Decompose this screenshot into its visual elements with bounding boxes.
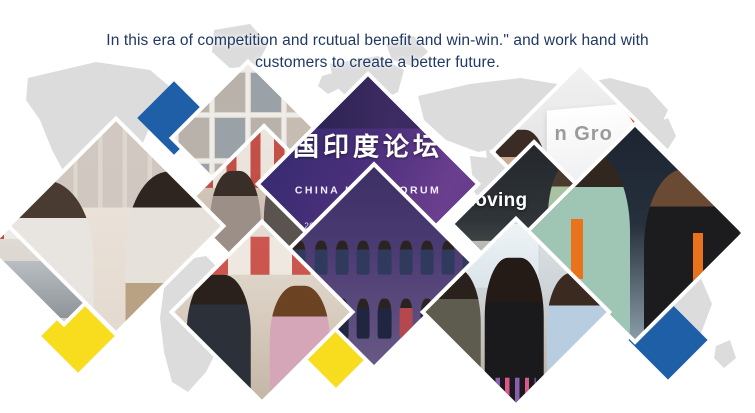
banner-stage: In this era of competition and rcutual b… xyxy=(0,0,755,413)
tagline-line-1: In this era of competition and rcutual b… xyxy=(106,32,648,49)
banner-tagline: In this era of competition and rcutual b… xyxy=(0,30,755,74)
moving-banner-text: Moving xyxy=(459,190,527,212)
tagline-line-2: customers to create a better future. xyxy=(70,52,685,74)
